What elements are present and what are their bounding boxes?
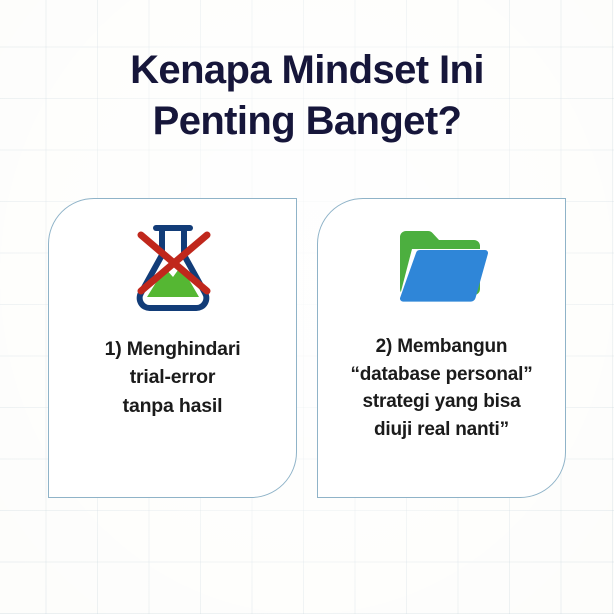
page-title-line-1: Kenapa Mindset Ini <box>40 45 574 96</box>
card-2-line-2: “database personal” <box>350 361 532 389</box>
card-membangun-database-personal[interactable]: 2) Membangun “database personal” strateg… <box>317 198 566 498</box>
card-group: 1) Menghindari trial-error tanpa hasil 2… <box>48 198 566 498</box>
page-title: Kenapa Mindset Ini Penting Banget? <box>0 45 614 147</box>
open-folder-icon <box>388 217 496 321</box>
card-1-line-1: 1) Menghindari <box>105 335 241 363</box>
card-1-line-3: tanpa hasil <box>105 392 241 420</box>
card-2-line-3: strategi yang bisa <box>350 388 532 416</box>
poster-canvas: Kenapa Mindset Ini Penting Banget? <box>0 0 614 614</box>
card-1-text: 1) Menghindari trial-error tanpa hasil <box>93 335 253 420</box>
page-title-line-2: Penting Banget? <box>40 96 574 147</box>
no-flask-icon <box>119 217 227 321</box>
card-2-line-4: diuji real nanti” <box>350 416 532 444</box>
card-1-line-2: trial-error <box>105 363 241 391</box>
card-2-text: 2) Membangun “database personal” strateg… <box>338 333 544 443</box>
card-menghindari-trial-error[interactable]: 1) Menghindari trial-error tanpa hasil <box>48 198 297 498</box>
card-2-line-1: 2) Membangun <box>350 333 532 361</box>
